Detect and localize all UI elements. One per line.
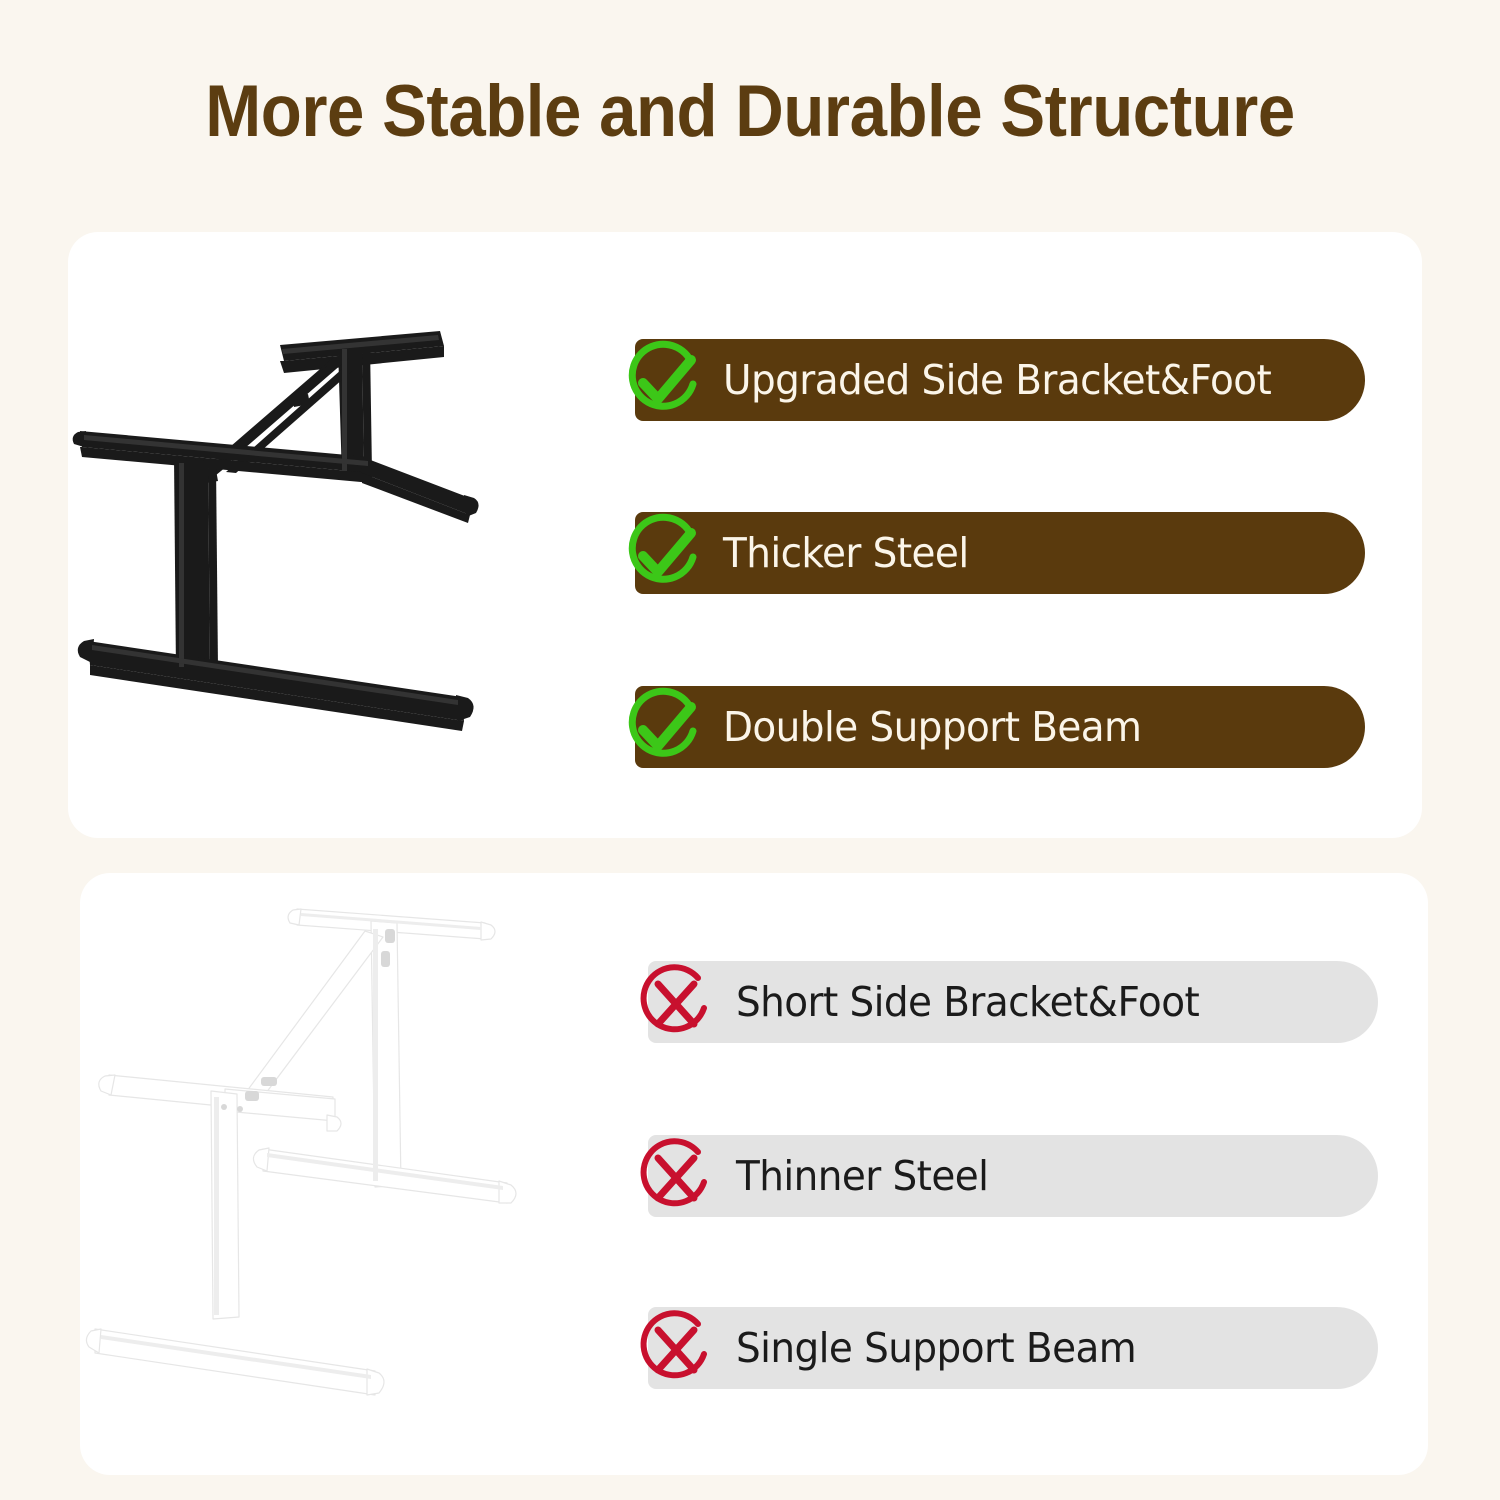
feature-pill-bad-0[interactable]: Short Side Bracket&Foot	[648, 961, 1378, 1043]
page-title: More Stable and Durable Structure	[60, 70, 1440, 153]
feature-label-bad-2: Single Support Beam	[736, 1324, 1136, 1372]
feature-pill-good-1[interactable]: Thicker Steel	[635, 512, 1365, 594]
black-desk-frame-image	[70, 245, 590, 835]
white-desk-frame-image	[85, 885, 605, 1465]
feature-pill-bad-1[interactable]: Thinner Steel	[648, 1135, 1378, 1217]
feature-pill-good-0[interactable]: Upgraded Side Bracket&Foot	[635, 339, 1365, 421]
feature-label-bad-0: Short Side Bracket&Foot	[736, 978, 1199, 1026]
feature-label-bad-1: Thinner Steel	[736, 1152, 988, 1200]
feature-label-good-0: Upgraded Side Bracket&Foot	[723, 356, 1271, 404]
feature-pill-bad-2[interactable]: Single Support Beam	[648, 1307, 1378, 1389]
feature-pill-good-2[interactable]: Double Support Beam	[635, 686, 1365, 768]
feature-label-good-1: Thicker Steel	[723, 529, 969, 577]
feature-label-good-2: Double Support Beam	[723, 703, 1141, 751]
